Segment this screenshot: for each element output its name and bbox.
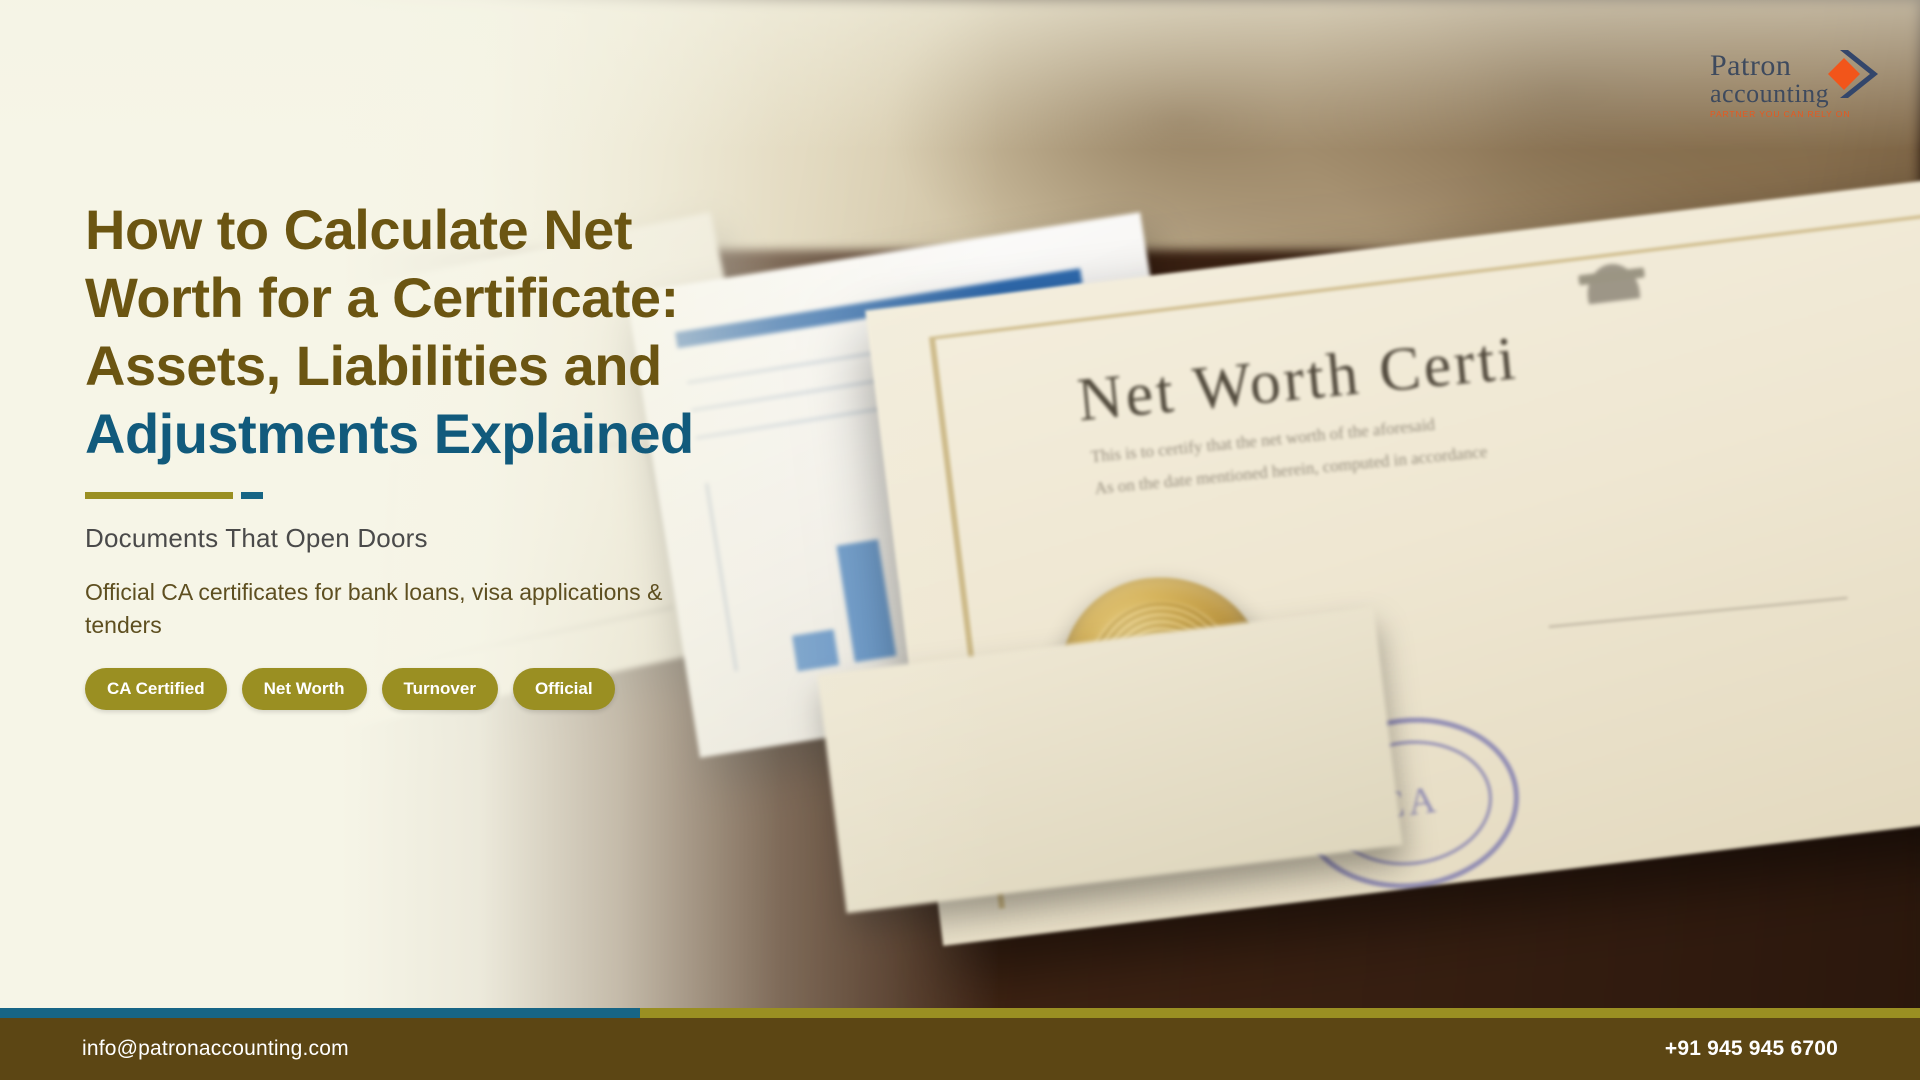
page-title: How to Calculate Net Worth for a Certifi…	[85, 196, 825, 468]
logo-tagline: PARTNER YOU CAN RELY ON	[1710, 109, 1878, 119]
hero-kicker: Documents That Open Doors	[85, 523, 825, 554]
accent-bar-teal	[241, 492, 263, 499]
badge-turnover[interactable]: Turnover	[382, 668, 498, 710]
accent-divider	[85, 492, 825, 499]
footer-bar: info@patronaccounting.com +91 945 945 67…	[0, 1018, 1920, 1080]
brand-logo[interactable]: Patron accounting PARTNER YOU CAN RELY O…	[1710, 52, 1878, 130]
stripe-segment-olive	[640, 1008, 1920, 1018]
hero-banner: Bank Statement Summary 2024 Net Worth Ce…	[0, 0, 1920, 1080]
badge-official[interactable]: Official	[513, 668, 615, 710]
badge-ca-certified[interactable]: CA Certified	[85, 668, 227, 710]
footer-phone[interactable]: +91 945 945 6700	[1665, 1037, 1838, 1061]
headline-line-1: How to Calculate Net	[85, 198, 632, 261]
stripe-segment-teal	[0, 1008, 640, 1018]
chevron-right-icon	[1818, 46, 1882, 102]
badge-list: CA Certified Net Worth Turnover Official	[85, 668, 825, 710]
hero-description: Official CA certificates for bank loans,…	[85, 576, 695, 642]
headline-line-3: Assets, Liabilities and	[85, 334, 662, 397]
headline-line-2: Worth for a Certificate:	[85, 266, 679, 329]
certificate-emblem-icon	[1563, 236, 1660, 307]
accent-bar-olive	[85, 492, 233, 499]
hero-content: How to Calculate Net Worth for a Certifi…	[85, 196, 825, 710]
headline-line-4-accent: Adjustments Explained	[85, 400, 825, 468]
badge-net-worth[interactable]: Net Worth	[242, 668, 367, 710]
footer-top-stripe	[0, 1008, 1920, 1018]
footer-email[interactable]: info@patronaccounting.com	[82, 1037, 349, 1061]
